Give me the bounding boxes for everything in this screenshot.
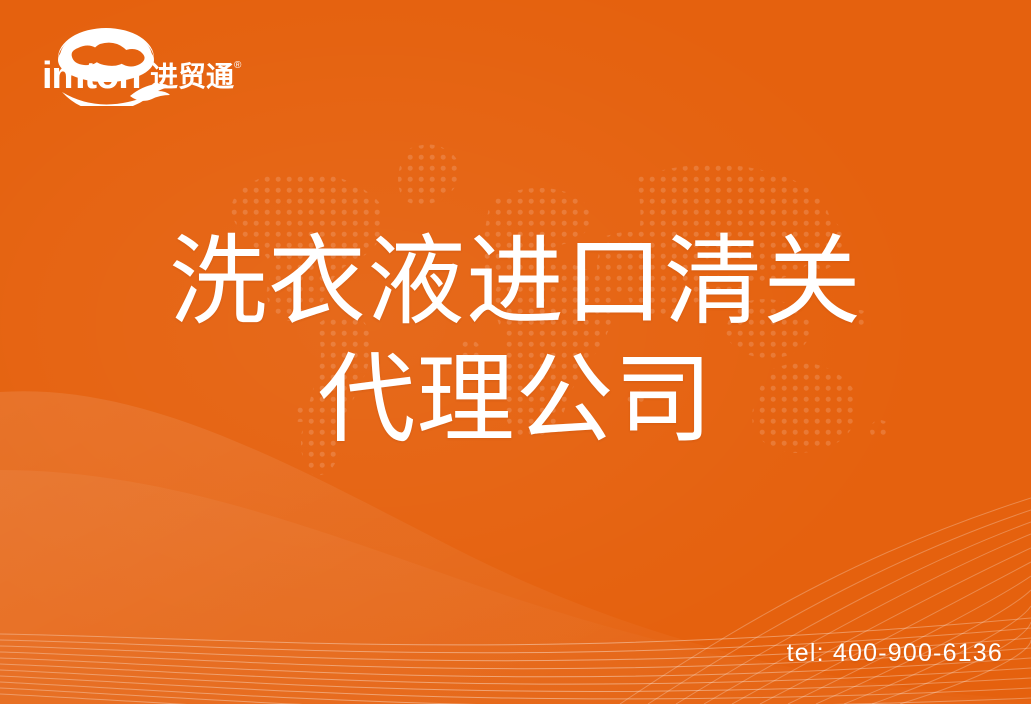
headline-line-1: 洗衣液进口清关 <box>0 222 1031 340</box>
company-logo[interactable]: imton 进贸通 ® imton 进贸通 <box>38 26 250 106</box>
trademark-symbol: ® <box>234 60 242 71</box>
promotional-banner: imton 进贸通 ® imton 进贸通 洗衣液进口清关 代理公司 tel: … <box>0 0 1031 704</box>
logo-latin-wordmark: imton <box>42 55 140 97</box>
page-title: 洗衣液进口清关 代理公司 <box>0 222 1031 458</box>
contact-telephone[interactable]: tel: 400-900-6136 <box>787 639 1003 668</box>
headline-line-2: 代理公司 <box>0 340 1031 458</box>
